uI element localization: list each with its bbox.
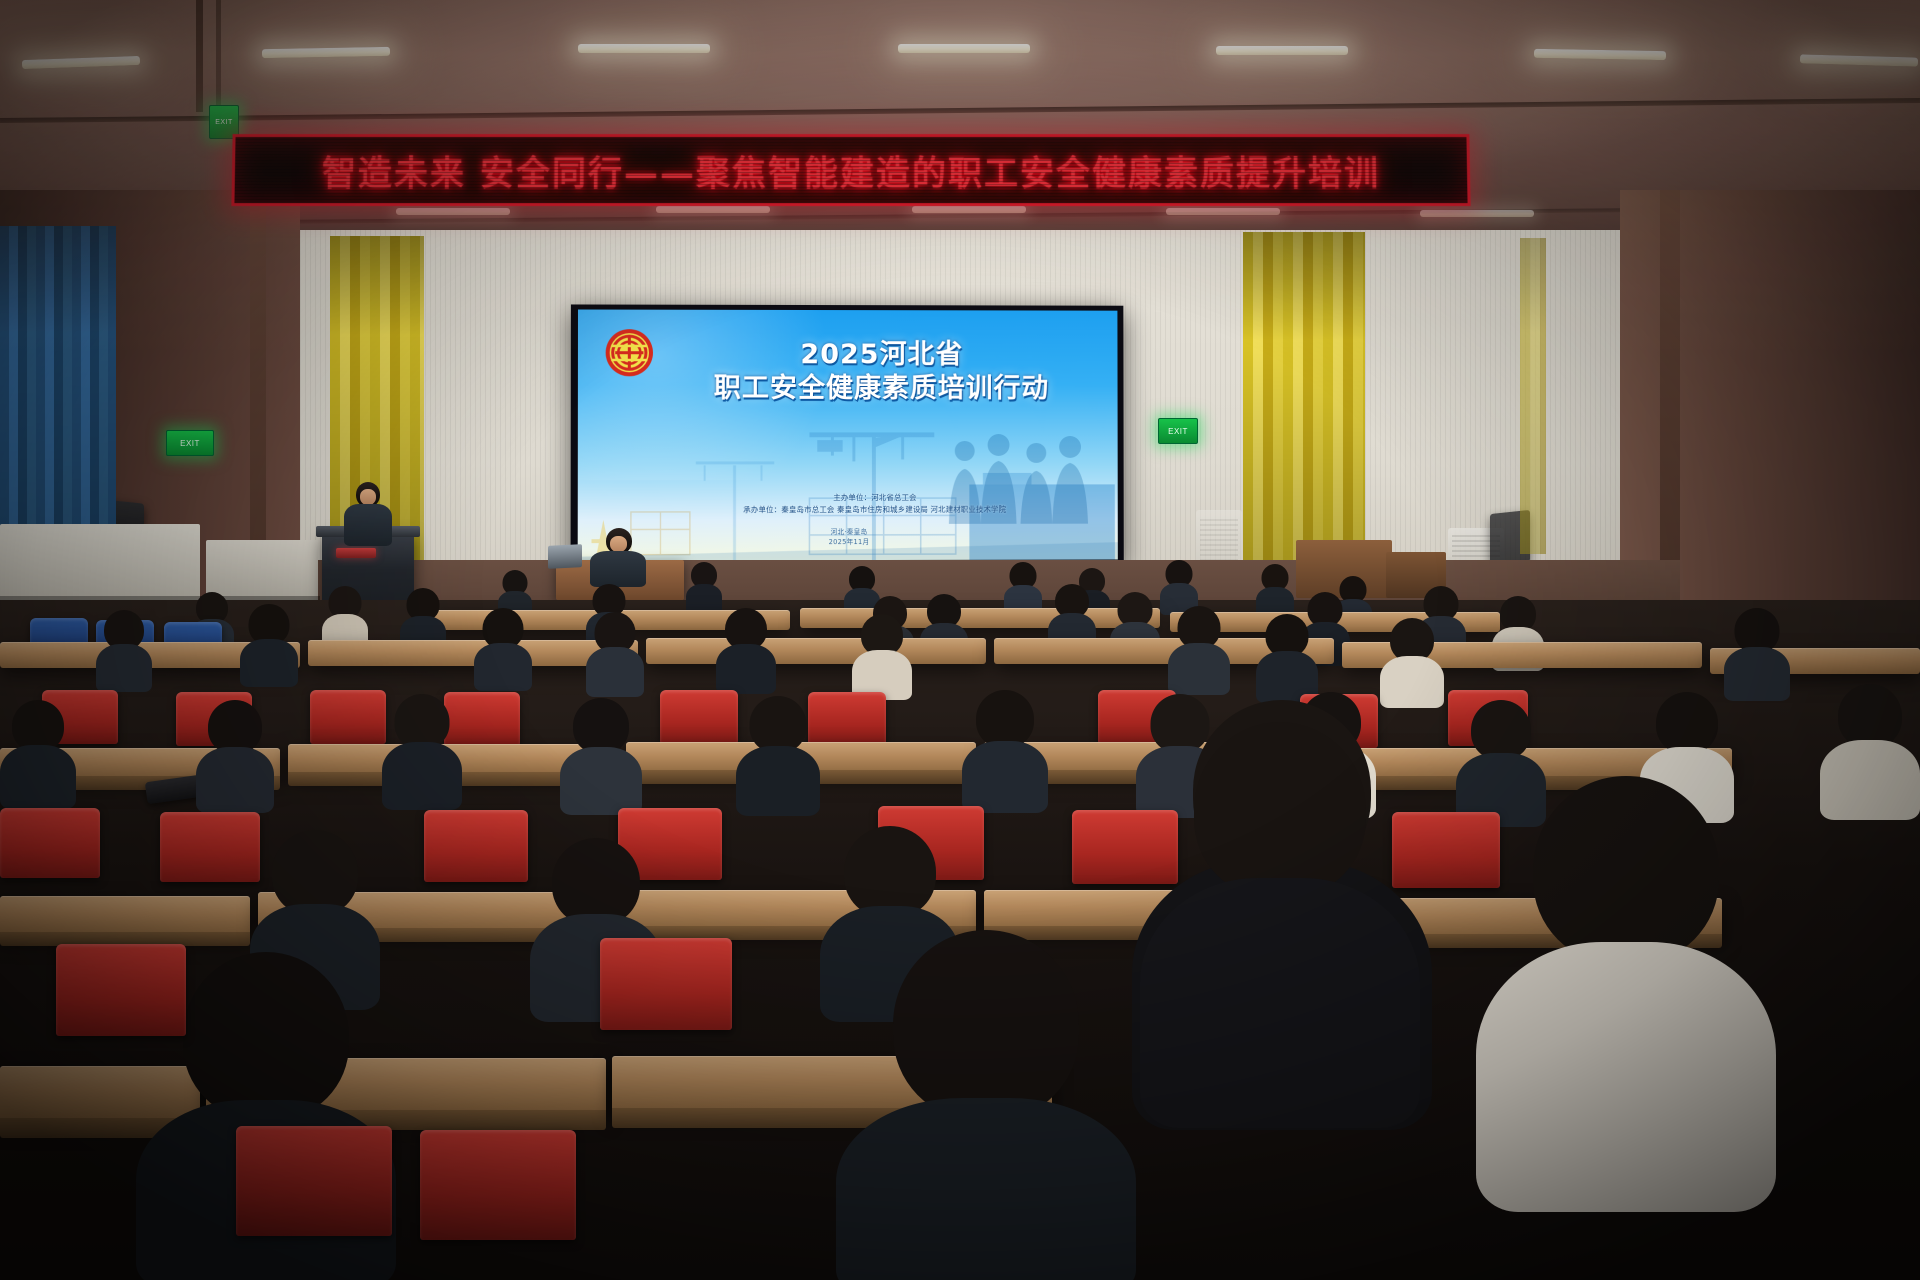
- head-table-laptop: [548, 544, 582, 569]
- slide-title-line-1: 2025河北省: [658, 340, 1103, 370]
- ceiling-pillar: [196, 0, 203, 112]
- led-banner-text: 智造未来 安全同行——聚焦智能建造的职工安全健康素质提升培训: [322, 146, 1381, 195]
- slide-footer-block: 河北·秦皇岛 2025年11月: [578, 528, 1118, 549]
- slide-title-line-2: 职工安全健康素质培训行动: [658, 371, 1103, 405]
- curtain-yellow-right: [1243, 232, 1365, 592]
- slide-title-block: 2025河北省 职工安全健康素质培训行动: [578, 340, 1118, 406]
- chair[interactable]: [600, 938, 732, 1030]
- fluorescent-tube-light: [578, 44, 710, 53]
- chair[interactable]: [236, 1126, 392, 1236]
- exit-sign-label: EXIT: [1168, 427, 1188, 436]
- chair[interactable]: [56, 944, 186, 1036]
- fluorescent-tube-light: [396, 208, 510, 215]
- presenter-at-lectern: [344, 482, 392, 544]
- chair[interactable]: [310, 690, 386, 744]
- fluorescent-tube-light: [656, 206, 770, 213]
- fluorescent-tube-light: [912, 206, 1026, 213]
- fluorescent-tube-light: [898, 44, 1030, 53]
- chair[interactable]: [0, 808, 100, 878]
- desk-row: [646, 638, 986, 664]
- slide-organizer-line-1: 主办单位：河北省总工会: [648, 492, 1100, 504]
- attendee-foreground-right: [1140, 722, 1420, 1122]
- slide-footer-date: 2025年11月: [578, 538, 1118, 549]
- slide-organizer-block: 主办单位：河北省总工会 承办单位：秦皇岛市总工会 秦皇岛市住房和城乡建设局 河北…: [648, 492, 1100, 516]
- lectern-device: [336, 548, 376, 558]
- exit-sign: EXIT: [166, 430, 214, 456]
- ceiling-pillar: [216, 0, 221, 106]
- chair[interactable]: [424, 810, 528, 882]
- exit-sign-label: EXIT: [180, 439, 200, 448]
- fluorescent-tube-light: [1420, 210, 1534, 217]
- exit-sign-label: EXIT: [215, 119, 233, 126]
- chair[interactable]: [160, 812, 260, 882]
- presentation-slide: 2025河北省 职工安全健康素质培训行动: [578, 309, 1118, 560]
- fluorescent-tube-light: [1216, 46, 1348, 55]
- projection-screen: 2025河北省 职工安全健康素质培训行动: [571, 304, 1124, 567]
- desk-row: [0, 896, 250, 936]
- exit-sign: EXIT: [1158, 418, 1198, 444]
- conference-hall-photo: EXIT EXIT EXIT 智造未来 安全同行——聚焦智能建造的职工安全健康素…: [0, 0, 1920, 1280]
- fluorescent-tube-light: [1166, 208, 1280, 215]
- led-scrolling-banner: 智造未来 安全同行——聚焦智能建造的职工安全健康素质提升培训: [231, 134, 1470, 206]
- chair[interactable]: [420, 1130, 576, 1240]
- curtain-yellow-far-right: [1520, 238, 1546, 554]
- slide-organizer-line-2: 承办单位：秦皇岛市总工会 秦皇岛市住房和城乡建设局 河北建材职业技术学院: [648, 504, 1100, 516]
- seated-presenter: [590, 528, 646, 584]
- chair[interactable]: [660, 690, 738, 744]
